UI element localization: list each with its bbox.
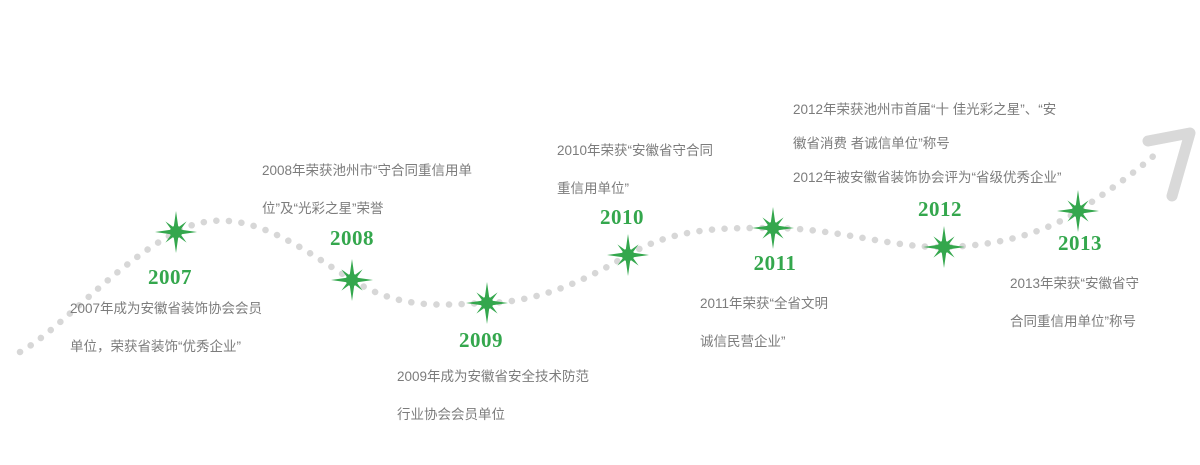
year-label-2008: 2008 <box>330 226 374 251</box>
description-line: 2011年荣获“全省文明 <box>700 285 828 323</box>
description-line: 徽省消费 者诚信单位”称号 <box>793 127 1062 161</box>
milestone-description-2009: 2009年成为安徽省安全技术防范行业协会会员单位 <box>397 358 589 434</box>
milestone-marker-2010[interactable] <box>605 232 651 278</box>
description-line: 合同重信用单位”称号 <box>1010 303 1139 341</box>
milestone-description-2008: 2008年荣获池州市“守合同重信用单位”及“光彩之星”荣誉 <box>262 152 472 228</box>
description-line: 2008年荣获池州市“守合同重信用单 <box>262 152 472 190</box>
timeline-infographic: 20072007年成为安徽省装饰协会会员单位，荣获省装饰“优秀企业”200820… <box>0 0 1200 465</box>
year-label-2012: 2012 <box>918 197 962 222</box>
milestone-description-2010: 2010年荣获“安徽省守合同重信用单位” <box>557 132 713 208</box>
year-label-2013: 2013 <box>1058 231 1102 256</box>
milestone-description-2013: 2013年荣获“安徽省守合同重信用单位”称号 <box>1010 265 1139 341</box>
milestone-marker-2012[interactable] <box>921 224 967 270</box>
year-label-2007: 2007 <box>148 265 192 290</box>
milestone-marker-2008[interactable] <box>329 257 375 303</box>
description-line: 诚信民营企业” <box>700 323 828 361</box>
milestone-marker-2013[interactable] <box>1055 188 1101 234</box>
year-label-2009: 2009 <box>459 328 503 353</box>
description-line: 2013年荣获“安徽省守 <box>1010 265 1139 303</box>
description-line: 位”及“光彩之星”荣誉 <box>262 190 472 228</box>
milestone-description-2007: 2007年成为安徽省装饰协会会员单位，荣获省装饰“优秀企业” <box>70 290 262 366</box>
description-line: 2007年成为安徽省装饰协会会员 <box>70 290 262 328</box>
milestone-description-2012: 2012年荣获池州市首届“十 佳光彩之星”、“安徽省消费 者诚信单位”称号201… <box>793 93 1062 195</box>
description-line: 重信用单位” <box>557 170 713 208</box>
description-line: 单位，荣获省装饰“优秀企业” <box>70 328 262 366</box>
year-label-2011: 2011 <box>754 251 797 276</box>
sunburst-star-icon <box>153 242 199 259</box>
milestone-marker-2009[interactable] <box>464 280 510 326</box>
arrow-head-icon <box>1148 133 1190 196</box>
milestone-marker-2007[interactable] <box>153 209 199 255</box>
milestone-marker-2011[interactable] <box>750 205 796 251</box>
description-line: 2012年被安徽省装饰协会评为“省级优秀企业” <box>793 161 1062 195</box>
description-line: 2010年荣获“安徽省守合同 <box>557 132 713 170</box>
sunburst-star-icon <box>921 257 967 274</box>
sunburst-star-icon <box>605 265 651 282</box>
description-line: 2012年荣获池州市首届“十 佳光彩之星”、“安 <box>793 93 1062 127</box>
milestone-description-2011: 2011年荣获“全省文明诚信民营企业” <box>700 285 828 361</box>
year-label-2010: 2010 <box>600 205 644 230</box>
description-line: 2009年成为安徽省安全技术防范 <box>397 358 589 396</box>
sunburst-star-icon <box>329 290 375 307</box>
description-line: 行业协会会员单位 <box>397 396 589 434</box>
